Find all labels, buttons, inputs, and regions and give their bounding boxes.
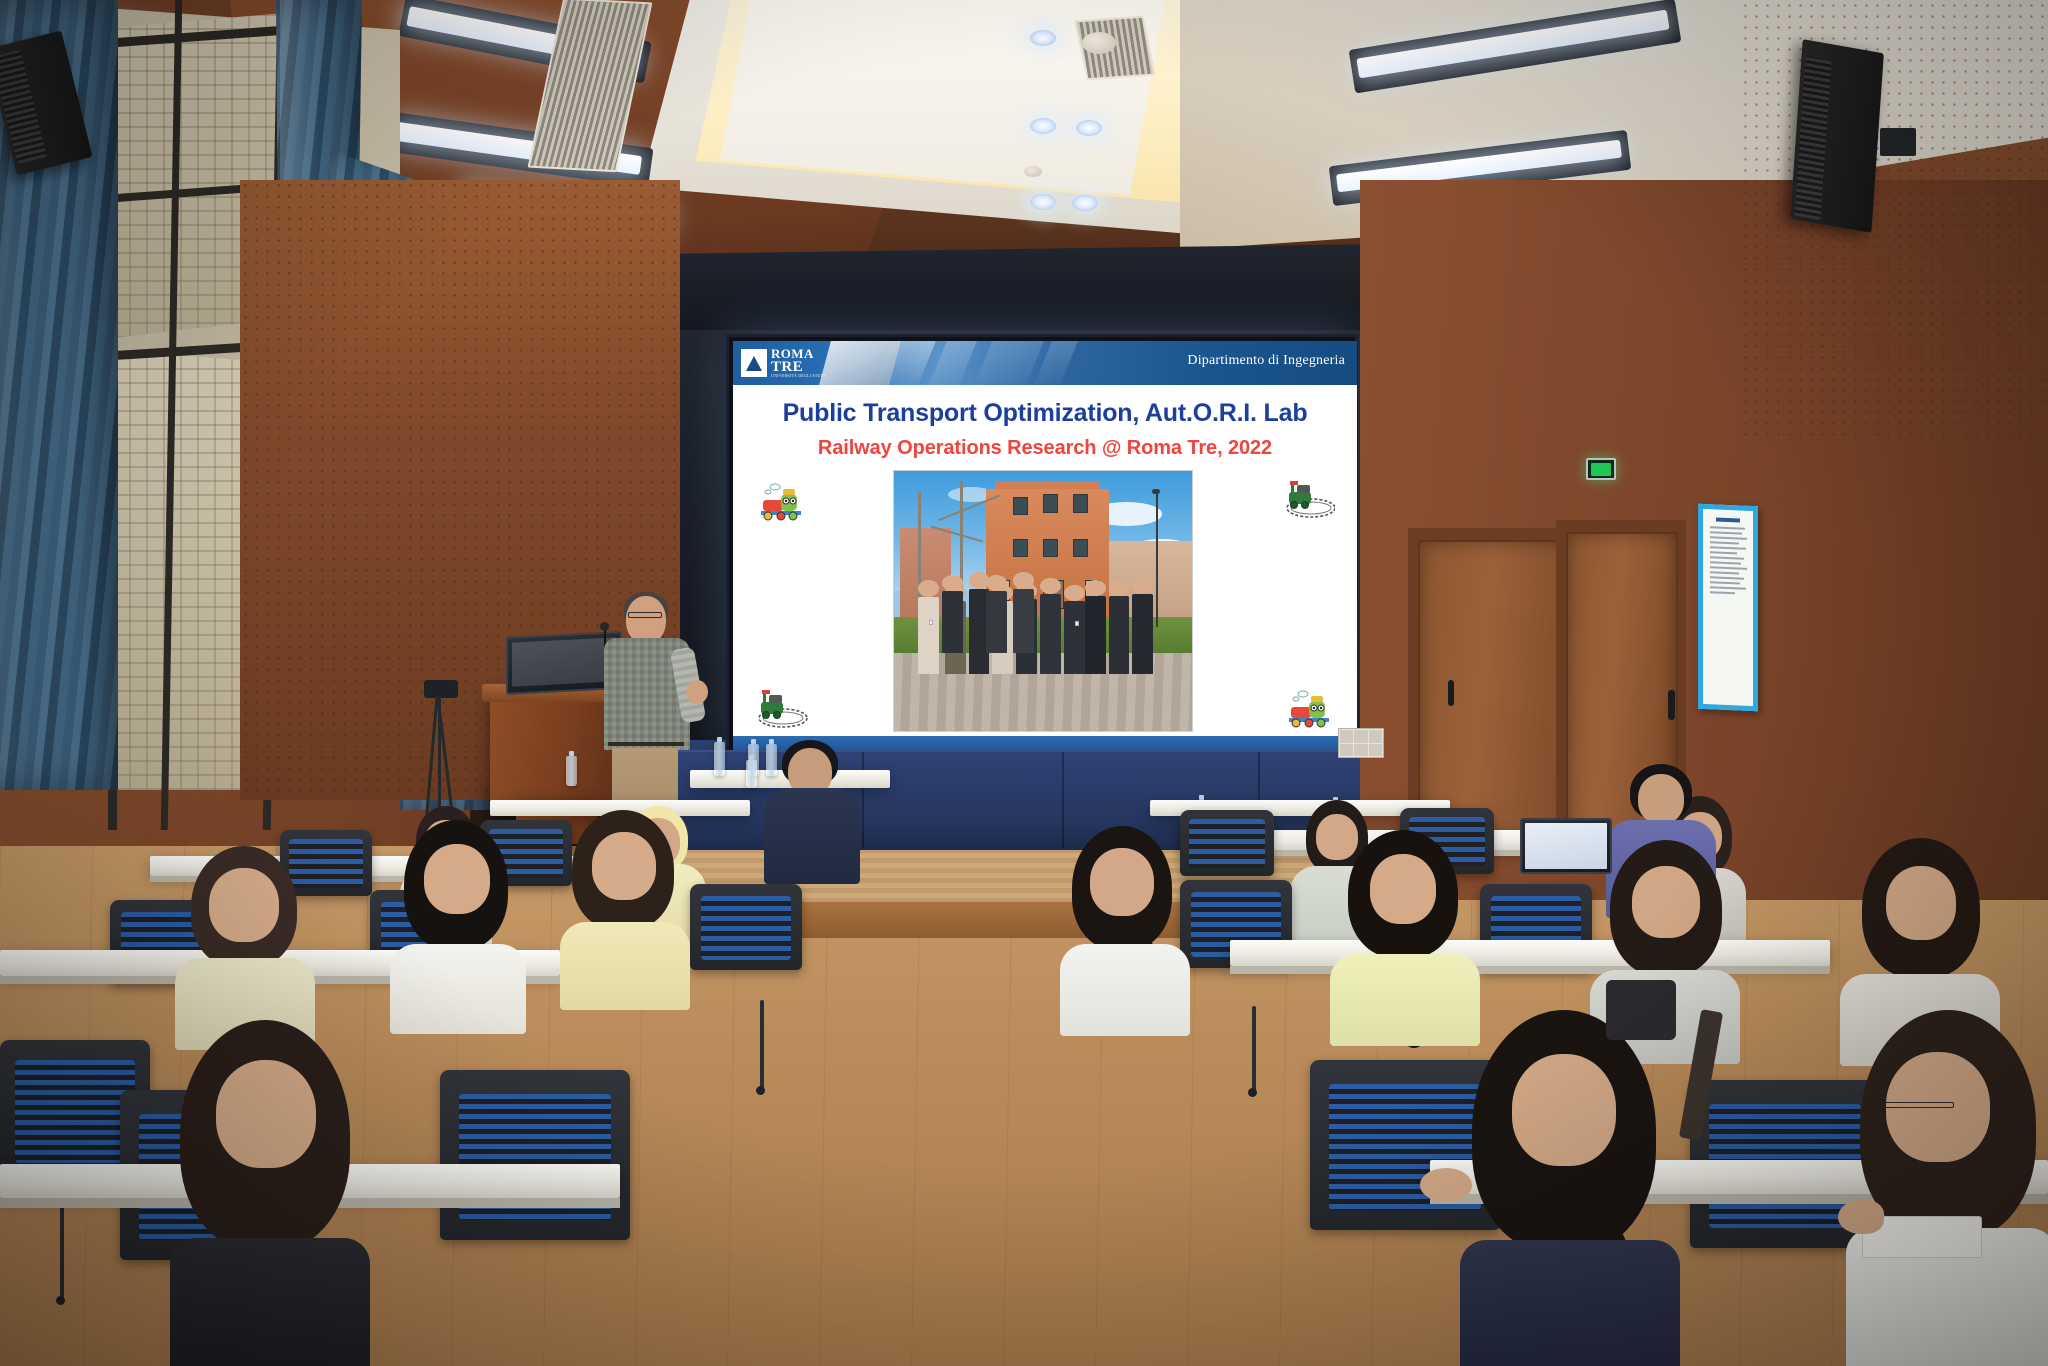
slide-banner: ROMA TRE UNIVERSITÀ DEGLI STUDI Dipartim… — [733, 341, 1357, 385]
photo-person-11 — [1085, 580, 1106, 674]
photo-lamppost — [1156, 492, 1158, 627]
speaker-mount-bracket — [1880, 128, 1916, 156]
photo-person-10 — [1064, 585, 1085, 673]
lectern — [490, 690, 622, 808]
cartoon-train-icon-topleft — [755, 480, 809, 522]
roma-tre-logo-mark-icon — [741, 349, 767, 377]
green-locomotive-track-icon-topright — [1281, 478, 1335, 520]
attendee-glasses-icon — [1884, 1102, 1954, 1108]
photo-window-4 — [1013, 539, 1028, 557]
attendee-navy-polo — [760, 740, 860, 880]
attendee-hand — [1838, 1200, 1884, 1234]
door-handle-icon-2[interactable] — [1668, 690, 1675, 720]
water-bottle-7 — [746, 760, 757, 788]
notice-board-title — [1716, 517, 1740, 522]
av-control-panel[interactable] — [1338, 728, 1384, 758]
green-locomotive-track-icon-bottomleft — [755, 688, 809, 730]
downlight-5 — [1072, 195, 1098, 211]
lecture-hall-scene: ROMA TRE UNIVERSITÀ DEGLI STUDI Dipartim… — [0, 0, 2048, 1366]
skirt-seam-1 — [862, 752, 864, 848]
attendee-hand-2 — [1420, 1168, 1472, 1202]
slide-body — [733, 468, 1357, 736]
downlight-4 — [1030, 194, 1056, 210]
water-bottle-6 — [566, 756, 577, 786]
logo-subtitle-text: UNIVERSITÀ DEGLI STUDI — [771, 374, 825, 378]
chair-far-3[interactable] — [1180, 810, 1274, 876]
attendee-foreground-3 — [1846, 1010, 2048, 1366]
smoke-detector-icon — [1082, 32, 1116, 54]
attendee-row-b-3 — [560, 810, 690, 1000]
banner-shard-2 — [929, 341, 977, 385]
downlight-3 — [1076, 120, 1102, 136]
presentation-slide[interactable]: ROMA TRE UNIVERSITÀ DEGLI STUDI Dipartim… — [733, 341, 1357, 753]
presenter-glasses-icon — [628, 612, 662, 618]
microphone-head-icon — [600, 622, 609, 631]
presenter-hand — [686, 680, 708, 704]
projection-screen[interactable]: ROMA TRE UNIVERSITÀ DEGLI STUDI Dipartim… — [726, 334, 1358, 754]
roma-tre-logo: ROMA TRE UNIVERSITÀ DEGLI STUDI — [741, 345, 839, 381]
logo-tre-text: TRE — [771, 360, 825, 374]
photo-window-1 — [1013, 497, 1028, 515]
photo-lamp-head — [1152, 489, 1160, 494]
photo-window-6 — [1073, 539, 1088, 557]
downlight-2 — [1030, 118, 1056, 134]
photo-person-8 — [1013, 572, 1034, 653]
notice-board — [1698, 504, 1758, 712]
downlight-1 — [1030, 30, 1056, 46]
right-wall-perforation — [1740, 0, 2048, 440]
attendee-row-b-4 — [1060, 826, 1190, 1022]
attendee-row-b-1 — [175, 846, 315, 1036]
photo-person-6 — [986, 575, 1007, 653]
photo-person-1 — [918, 580, 939, 674]
slide-subtitle: Railway Operations Research @ Roma Tre, … — [733, 437, 1357, 460]
photo-window-2 — [1043, 494, 1058, 512]
photo-person-9 — [1040, 578, 1061, 674]
attendee-row-b-5 — [1330, 830, 1480, 1030]
attendee-foreground-1 — [170, 1020, 370, 1366]
photo-person-3 — [942, 575, 963, 653]
presenter-laptop-screen — [512, 637, 616, 686]
door-handle-icon[interactable] — [1448, 680, 1454, 706]
smoke-detector-icon-2 — [1024, 166, 1042, 177]
photo-person-13 — [1132, 578, 1153, 674]
presenter-belt — [608, 742, 684, 746]
photo-window-3 — [1073, 494, 1088, 512]
cartoon-train-icon-bottomright — [1283, 688, 1337, 730]
attendee-foreground-2 — [1460, 1010, 1680, 1366]
water-bottle-1 — [714, 742, 725, 776]
emergency-exit-sign-icon — [1586, 458, 1616, 480]
banner-shard-3 — [974, 341, 1044, 385]
presenter-head — [626, 596, 666, 644]
desk-row2-right — [1230, 940, 1830, 966]
slide-title: Public Transport Optimization, Aut.O.R.I… — [733, 399, 1357, 428]
chair-front-3[interactable] — [440, 1070, 630, 1240]
chair-mid-3[interactable] — [690, 884, 802, 970]
attendee-row-b-2 — [390, 820, 526, 1020]
photo-person-12 — [1109, 580, 1130, 674]
photo-window-5 — [1043, 539, 1058, 557]
slide-group-photo — [893, 470, 1193, 732]
slide-department-label: Dipartimento di Ingegneria — [1187, 353, 1345, 369]
backpack — [1606, 980, 1676, 1040]
